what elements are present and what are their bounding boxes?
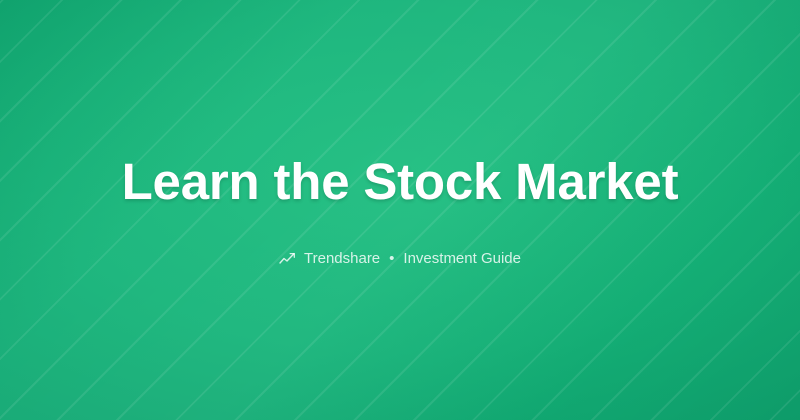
hero-banner: Learn the Stock Market Trendshare • Inve…: [0, 0, 800, 420]
banner-subtitle: Trendshare • Investment Guide: [279, 251, 521, 266]
subtitle-brand: Trendshare: [304, 251, 380, 266]
chart-line-up-icon: [279, 252, 296, 265]
page-title: Learn the Stock Market: [122, 154, 679, 209]
banner-content: Learn the Stock Market Trendshare • Inve…: [0, 154, 800, 266]
subtitle-separator: •: [388, 251, 395, 266]
subtitle-tagline: Investment Guide: [403, 251, 521, 266]
